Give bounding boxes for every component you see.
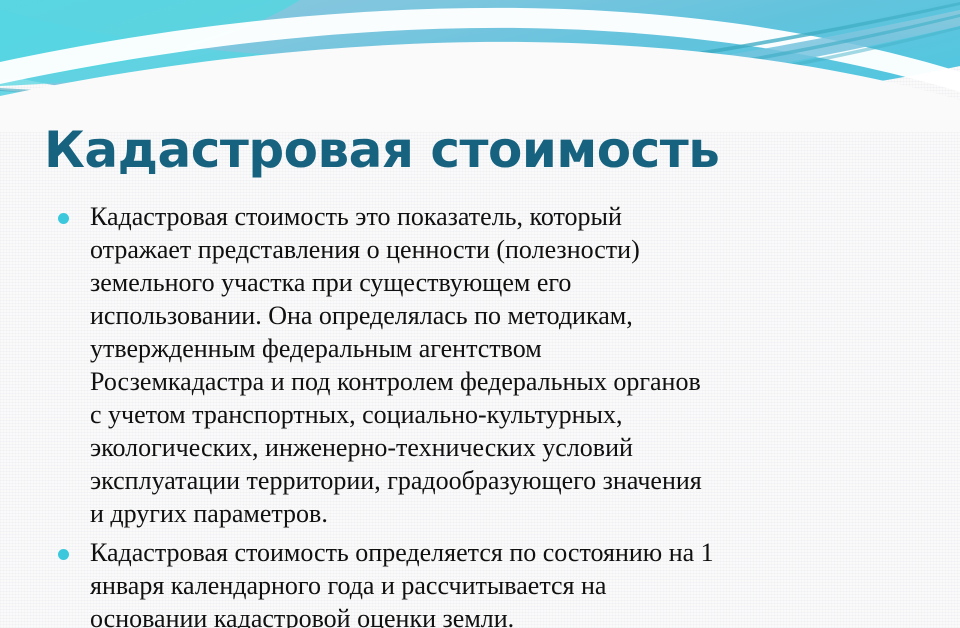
bullet-paragraph-2: Кадастровая стоимость определяется по со… xyxy=(90,536,920,628)
header-wave-svg xyxy=(0,0,960,132)
bullet-dot-icon xyxy=(58,213,69,224)
presentation-slide: Кадастровая стоимость Кадастровая стоимо… xyxy=(0,0,960,628)
page-title: Кадастровая стоимость xyxy=(44,124,719,177)
list-item: Кадастровая стоимость это показатель, ко… xyxy=(52,200,920,530)
list-item: Кадастровая стоимость определяется по со… xyxy=(52,536,920,628)
bullet-paragraph-1: Кадастровая стоимость это показатель, ко… xyxy=(90,200,920,530)
bullet-dot-icon xyxy=(58,549,69,560)
header-wave-decoration xyxy=(0,0,960,132)
slide-body-content: Кадастровая стоимость это показатель, ко… xyxy=(52,200,920,628)
